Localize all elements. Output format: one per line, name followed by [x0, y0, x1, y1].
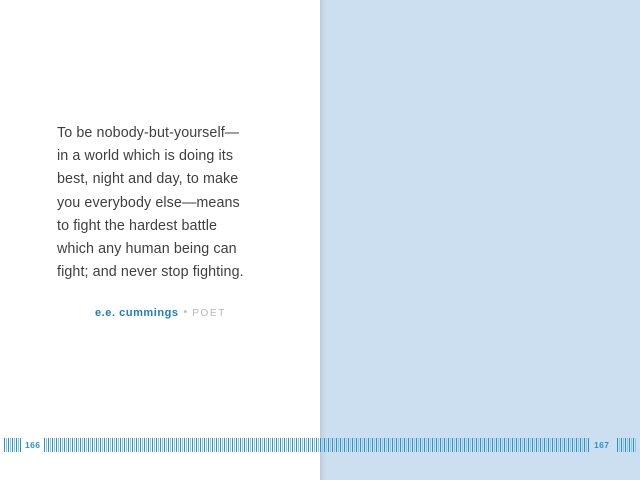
tick-run-right-main — [320, 438, 590, 452]
attribution-role-left: POET — [192, 308, 226, 319]
bullet-separator-icon: • — [184, 307, 188, 318]
tick-run-right-end — [617, 438, 636, 452]
attribution-left: e.e. cummings•POET — [95, 303, 267, 321]
footer-rule: 166 167 — [0, 438, 640, 452]
page-gutter — [320, 0, 329, 480]
book-spread: To be nobody-but-yourself— in a world wh… — [0, 0, 640, 480]
left-page: To be nobody-but-yourself— in a world wh… — [0, 0, 320, 480]
tick-run-left-start — [4, 438, 21, 452]
attribution-name-left: e.e. cummings — [95, 307, 179, 319]
right-page: Sometimes you have to play a long time t… — [320, 0, 640, 480]
quote-text-left: To be nobody-but-yourself— in a world wh… — [57, 122, 267, 284]
tick-run-left-main — [44, 438, 320, 452]
page-number-left: 166 — [25, 440, 40, 450]
page-number-right: 167 — [594, 440, 609, 450]
left-quote-block: To be nobody-but-yourself— in a world wh… — [57, 122, 267, 321]
